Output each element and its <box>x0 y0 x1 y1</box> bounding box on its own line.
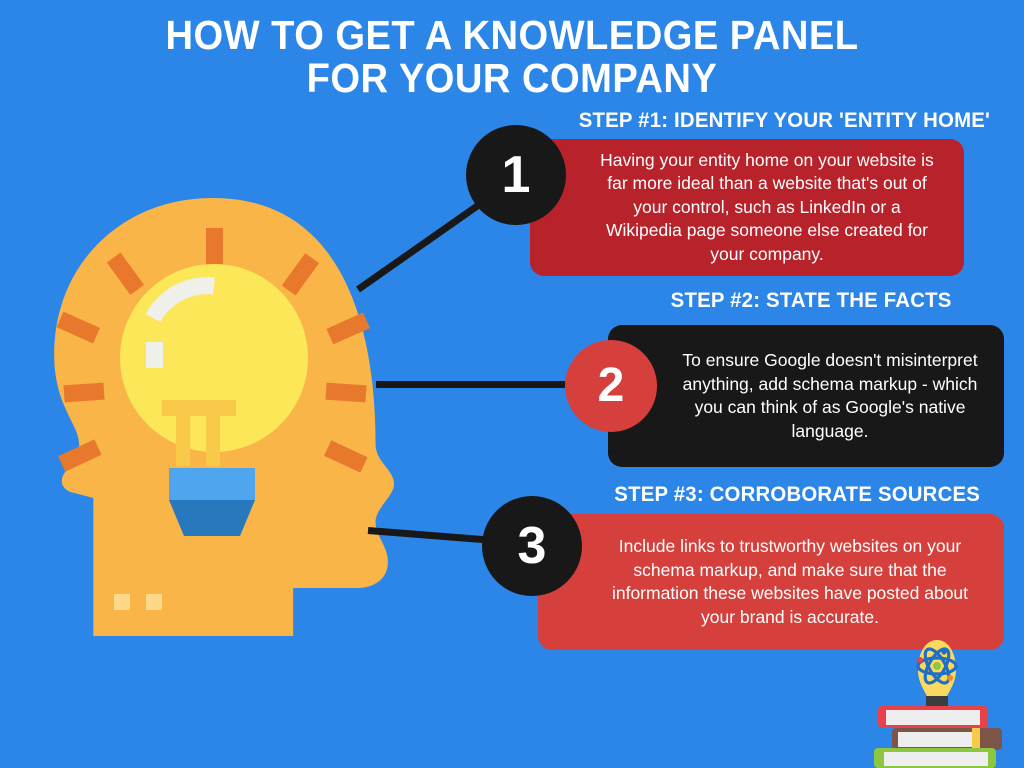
step-2-number: 2 <box>598 360 625 412</box>
infographic-canvas: HOW TO GET A KNOWLEDGE PANELFOR YOUR COM… <box>0 0 1024 768</box>
step-2-number-badge: 2 <box>565 340 657 432</box>
step-3-body: Include links to trustworthy websites on… <box>602 535 978 629</box>
step-3-number-badge: 3 <box>482 496 582 596</box>
books-with-idea-bulb-illustration <box>862 628 1012 768</box>
step-1-number-badge: 1 <box>466 125 566 225</box>
step-2-card: To ensure Google doesn't misinterpret an… <box>608 325 1004 467</box>
page-title: HOW TO GET A KNOWLEDGE PANELFOR YOUR COM… <box>36 14 988 100</box>
step-1-body: Having your entity home on your website … <box>596 149 938 267</box>
page-title-line1: HOW TO GET A KNOWLEDGE PANEL <box>166 12 859 58</box>
step-3-number: 3 <box>518 520 547 572</box>
step-3-heading: STEP #3: CORROBORATE SOURCES <box>614 483 980 507</box>
step-2-body: To ensure Google doesn't misinterpret an… <box>678 349 982 443</box>
connector-line-step-2 <box>376 381 576 388</box>
step-2-heading: STEP #2: STATE THE FACTS <box>671 289 952 313</box>
step-1-heading: STEP #1: IDENTIFY YOUR 'ENTITY HOME' <box>579 109 990 133</box>
page-title-line2: FOR YOUR COMPANY <box>307 55 718 101</box>
step-1-card: Having your entity home on your website … <box>530 139 964 276</box>
step-1-number: 1 <box>502 149 531 201</box>
